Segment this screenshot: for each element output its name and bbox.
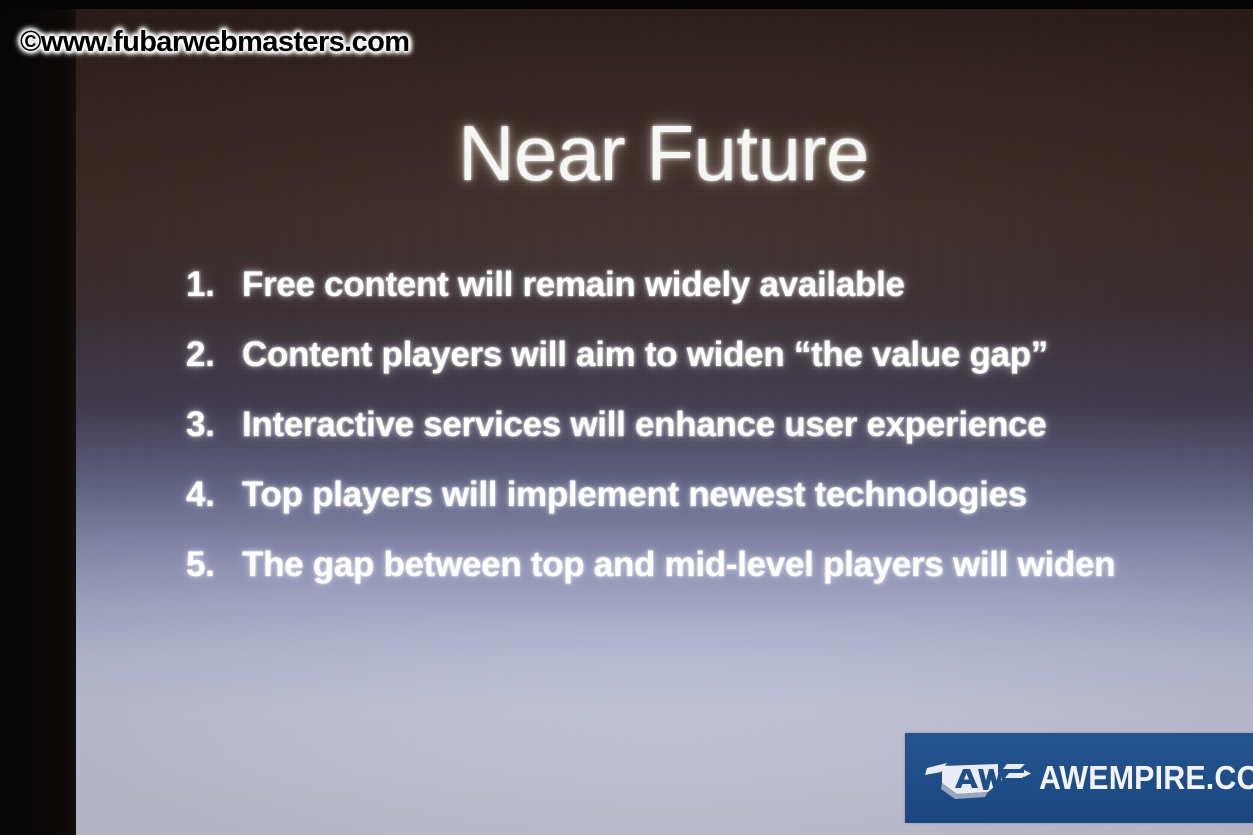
- top-black-border: [0, 0, 1253, 9]
- awempire-wordmark: AWEMPIRE.COM: [1039, 759, 1253, 797]
- list-item-number: 3.: [186, 405, 242, 445]
- awempire-logo-icon: [925, 752, 1033, 804]
- list-item: 1. Free content will remain widely avail…: [186, 265, 1186, 335]
- slide-title: Near Future: [74, 108, 1253, 199]
- list-item-number: 2.: [186, 335, 242, 375]
- list-item: 4. Top players will implement newest tec…: [186, 475, 1186, 545]
- fubarwebmasters-watermark: ©www.fubarwebmasters.com: [20, 26, 409, 59]
- awempire-banner[interactable]: AWEMPIRE.COM: [905, 733, 1253, 823]
- list-item-number: 1.: [186, 265, 242, 305]
- list-item: 3. Interactive services will enhance use…: [186, 405, 1186, 475]
- slide-bullet-list: 1. Free content will remain widely avail…: [186, 265, 1186, 615]
- presentation-photo: Near Future 1. Free content will remain …: [0, 0, 1253, 835]
- list-item-label: Free content will remain widely availabl…: [242, 265, 1186, 305]
- list-item-label: Interactive services will enhance user e…: [242, 405, 1186, 445]
- list-item-label: Top players will implement newest techno…: [242, 475, 1186, 515]
- list-item: 5. The gap between top and mid-level pla…: [186, 545, 1186, 615]
- left-black-border: [0, 0, 76, 835]
- list-item-number: 5.: [186, 545, 242, 585]
- list-item-number: 4.: [186, 475, 242, 515]
- list-item-label: Content players will aim to widen “the v…: [242, 335, 1186, 375]
- list-item: 2. Content players will aim to widen “th…: [186, 335, 1186, 405]
- list-item-label: The gap between top and mid-level player…: [242, 545, 1186, 585]
